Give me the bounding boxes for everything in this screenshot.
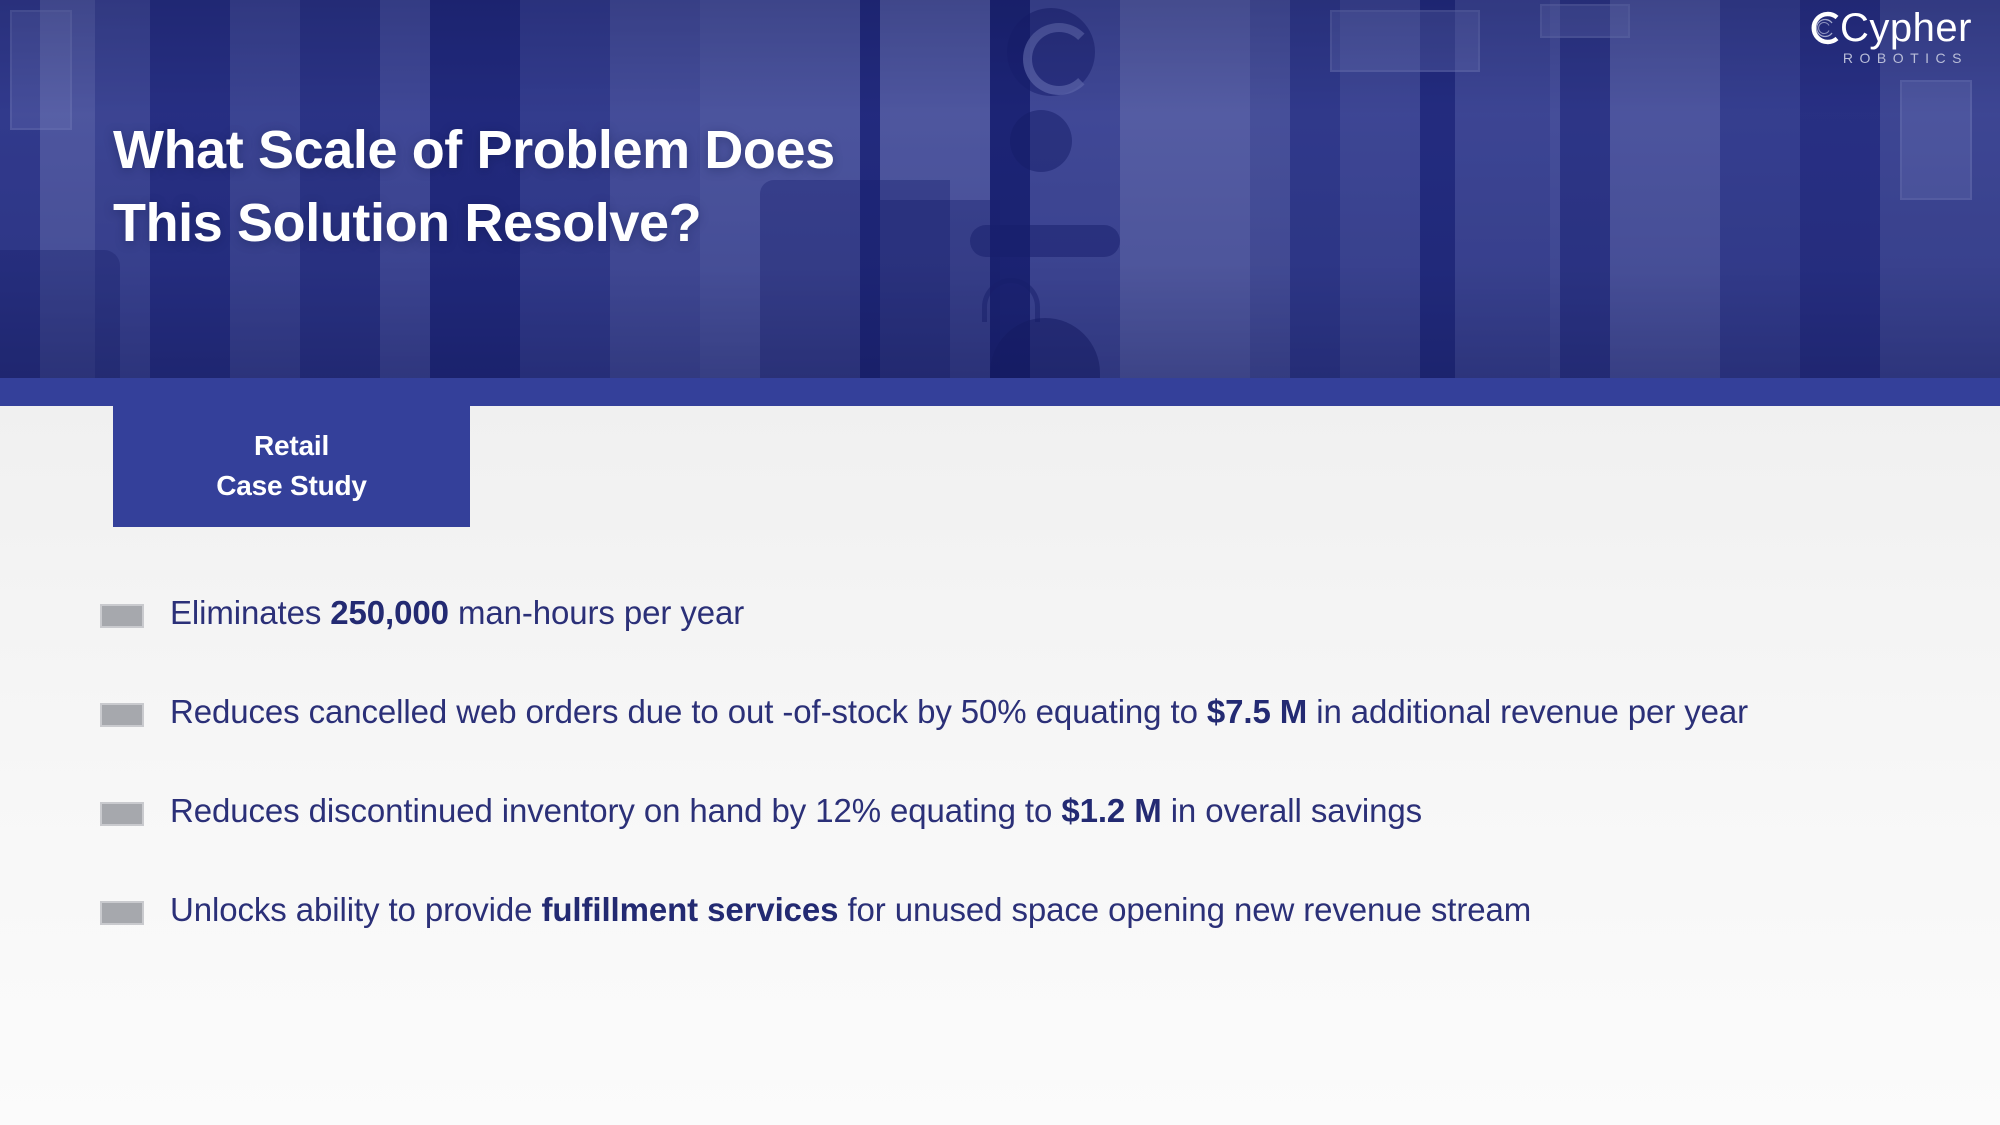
bullet-emphasis: fulfillment services — [541, 891, 838, 928]
bullet-marker-icon — [100, 901, 144, 925]
case-study-tab[interactable]: Retail Case Study — [113, 404, 470, 527]
bullet-text-segment: Reduces cancelled web orders due to out … — [170, 693, 1207, 730]
bullet-text-segment: in additional revenue per year — [1307, 693, 1748, 730]
logo-tagline-text: ROBOTICS — [1843, 50, 1968, 66]
bullet-text-segment: for unused space opening new revenue str… — [838, 891, 1531, 928]
case-study-tab-line-2: Case Study — [216, 466, 367, 506]
cypher-c-mark-icon — [1805, 8, 1845, 48]
bullet-text-segment: in overall savings — [1162, 792, 1422, 829]
bullet-row: Unlocks ability to provide fulfillment s… — [100, 887, 1940, 934]
bullet-list: Eliminates 250,000 man-hours per yearRed… — [100, 590, 1940, 985]
bullet-discontinued-inventory: Reduces discontinued inventory on hand b… — [170, 788, 1422, 835]
bullet-marker-icon — [100, 802, 144, 826]
bullet-fulfillment-services: Unlocks ability to provide fulfillment s… — [170, 887, 1531, 934]
bullet-text-segment: Eliminates — [170, 594, 330, 631]
bullet-emphasis: $1.2 M — [1061, 792, 1161, 829]
brand-logo[interactable]: Cypher ROBOTICS — [1805, 8, 1972, 66]
logo-wordmark: Cypher — [1805, 8, 1972, 48]
bullet-cancelled-web-orders: Reduces cancelled web orders due to out … — [170, 689, 1748, 736]
bullet-text-segment: Reduces discontinued inventory on hand b… — [170, 792, 1061, 829]
presentation-slide: Cypher ROBOTICS What Scale of Problem Do… — [0, 0, 2000, 1125]
slide-title-line-1: What Scale of Problem Does — [113, 114, 835, 187]
bullet-row: Eliminates 250,000 man-hours per year — [100, 590, 1940, 637]
slide-title-line-2: This Solution Resolve? — [113, 187, 835, 260]
bullet-text-segment: Unlocks ability to provide — [170, 891, 541, 928]
bullet-man-hours: Eliminates 250,000 man-hours per year — [170, 590, 744, 637]
bullet-row: Reduces cancelled web orders due to out … — [100, 689, 1940, 736]
bullet-marker-icon — [100, 604, 144, 628]
hero-bottom-band — [0, 378, 2000, 406]
bullet-emphasis: 250,000 — [330, 594, 449, 631]
bullet-text-segment: man-hours per year — [449, 594, 744, 631]
bullet-marker-icon — [100, 703, 144, 727]
slide-title: What Scale of Problem Does This Solution… — [113, 114, 835, 261]
bullet-row: Reduces discontinued inventory on hand b… — [100, 788, 1940, 835]
logo-name-text: Cypher — [1840, 8, 1972, 48]
case-study-tab-line-1: Retail — [254, 426, 329, 466]
bullet-emphasis: $7.5 M — [1207, 693, 1307, 730]
